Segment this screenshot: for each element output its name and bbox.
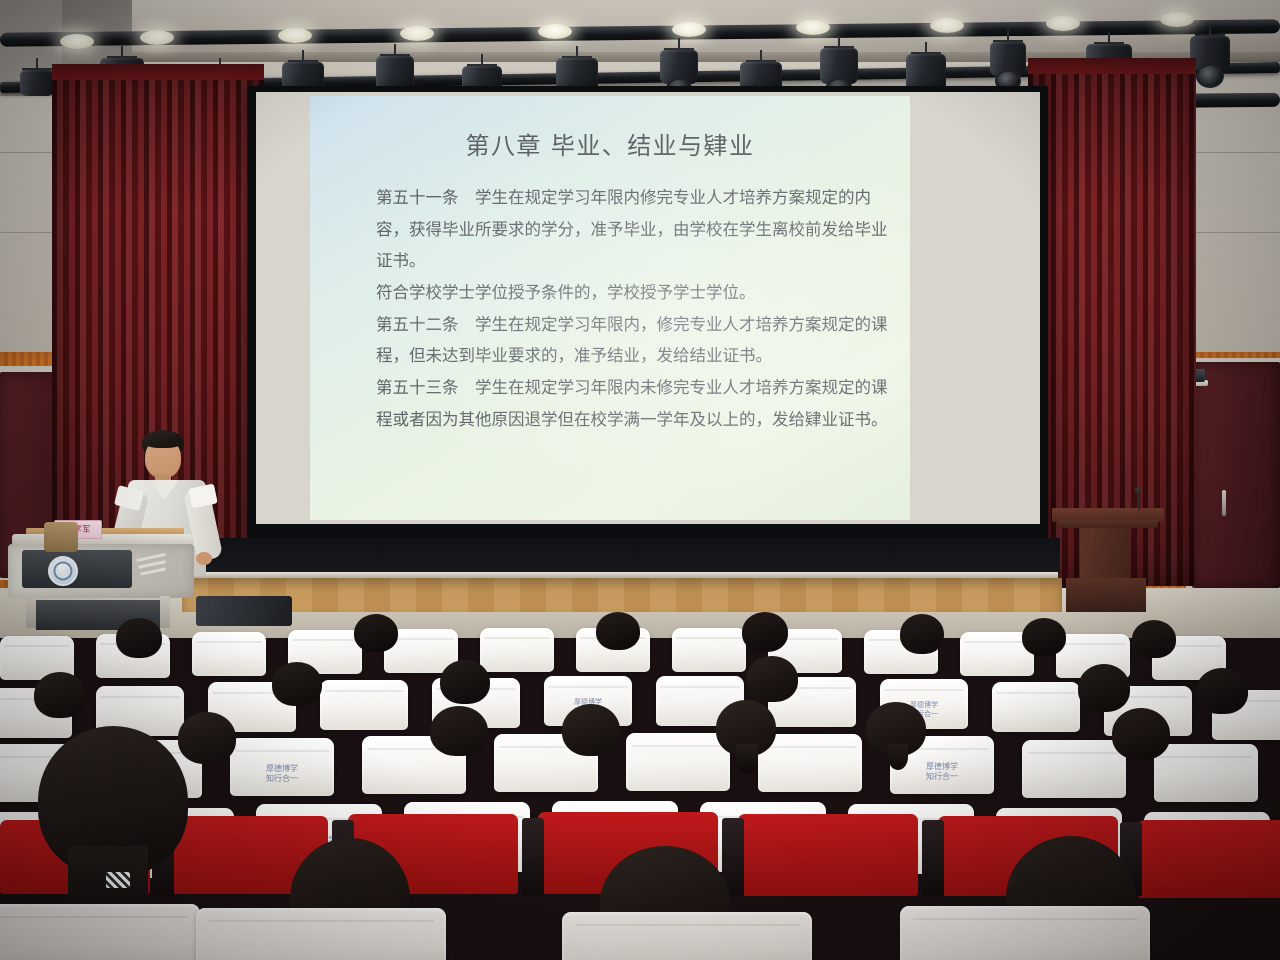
audience-head <box>900 614 944 654</box>
ceiling-downlight <box>672 22 706 37</box>
audience-head <box>272 662 322 706</box>
stage-curtain-right <box>1028 58 1196 586</box>
audience-head <box>430 706 488 756</box>
curtain-valance-right <box>1028 58 1196 74</box>
ceiling-downlight <box>278 28 312 43</box>
seat-motto: 厚德博学知行合一 <box>230 764 334 784</box>
audience-head <box>1078 664 1130 712</box>
slide-title: 第八章 毕业、结业与肄业 <box>310 126 910 161</box>
audience-head <box>1112 708 1170 760</box>
ceiling-downlight <box>400 26 434 41</box>
right-door[interactable] <box>1192 362 1280 588</box>
seat[interactable]: 厚德博学知行合一 <box>230 738 334 796</box>
slide-paragraph-4: 第五十三条 学生在规定学习年限内未修完专业人才培养方案规定的课程或者因为其他原因… <box>376 372 892 435</box>
seat[interactable] <box>1022 740 1126 798</box>
stage-apron <box>182 578 1062 612</box>
audience-head <box>1132 620 1176 658</box>
seat[interactable] <box>480 628 554 672</box>
seat[interactable] <box>192 632 266 676</box>
audience-head <box>38 726 188 876</box>
audience-head <box>716 700 776 756</box>
speaker-podium: 贝学军 <box>8 520 198 630</box>
seat[interactable] <box>992 682 1080 732</box>
audience-head <box>1022 618 1066 656</box>
seat[interactable] <box>0 904 200 960</box>
slide-body: 第五十一条 学生在规定学习年限内修完专业人才培养方案规定的内容，获得毕业所要求的… <box>376 182 892 435</box>
presentation-slide: 第八章 毕业、结业与肄业 第五十一条 学生在规定学习年限内修完专业人才培养方案规… <box>310 96 910 520</box>
ceiling-downlight <box>796 20 830 35</box>
seat-divider <box>522 818 544 896</box>
seat[interactable] <box>900 906 1150 960</box>
wooden-lectern <box>1052 508 1164 612</box>
seat[interactable] <box>196 908 446 960</box>
ceiling-downlight <box>60 34 94 49</box>
audience-head <box>596 612 640 650</box>
audience-head <box>746 656 798 702</box>
ceiling-downlight <box>930 18 964 33</box>
seat-divider <box>922 820 944 896</box>
auditorium-scene: 第八章 毕业、结业与肄业 第五十一条 学生在规定学习年限内修完专业人才培养方案规… <box>0 0 1280 960</box>
seat[interactable] <box>320 680 408 730</box>
audience-head <box>742 612 788 652</box>
audience-head <box>34 672 86 718</box>
seat[interactable] <box>626 733 730 791</box>
audience-head <box>562 704 620 756</box>
ceiling-downlight <box>140 30 174 45</box>
audience-head <box>440 660 490 704</box>
seat[interactable] <box>672 628 746 672</box>
ceiling-downlight <box>1046 16 1080 31</box>
curtain-valance-left <box>52 64 264 80</box>
audience-head <box>354 614 398 652</box>
audience-head <box>116 618 162 658</box>
seat-frame <box>1138 820 1280 898</box>
seat-frame <box>738 814 918 896</box>
slide-paragraph-3: 第五十二条 学生在规定学习年限内，修完专业人才培养方案规定的课程，但未达到毕业要… <box>376 309 892 372</box>
seat[interactable] <box>562 912 812 960</box>
audience-head <box>866 702 926 756</box>
slide-paragraph-1: 第五十一条 学生在规定学习年限内修完专业人才培养方案规定的内容，获得毕业所要求的… <box>376 182 892 277</box>
stage-dark-band <box>180 538 1060 574</box>
stage-chair <box>44 522 78 552</box>
audience-head <box>1196 668 1248 714</box>
slide-paragraph-2: 符合学校学士学位授予条件的，学校授予学士学位。 <box>376 277 892 309</box>
ceiling-downlight <box>538 24 572 39</box>
ceiling-downlight <box>1160 12 1194 27</box>
